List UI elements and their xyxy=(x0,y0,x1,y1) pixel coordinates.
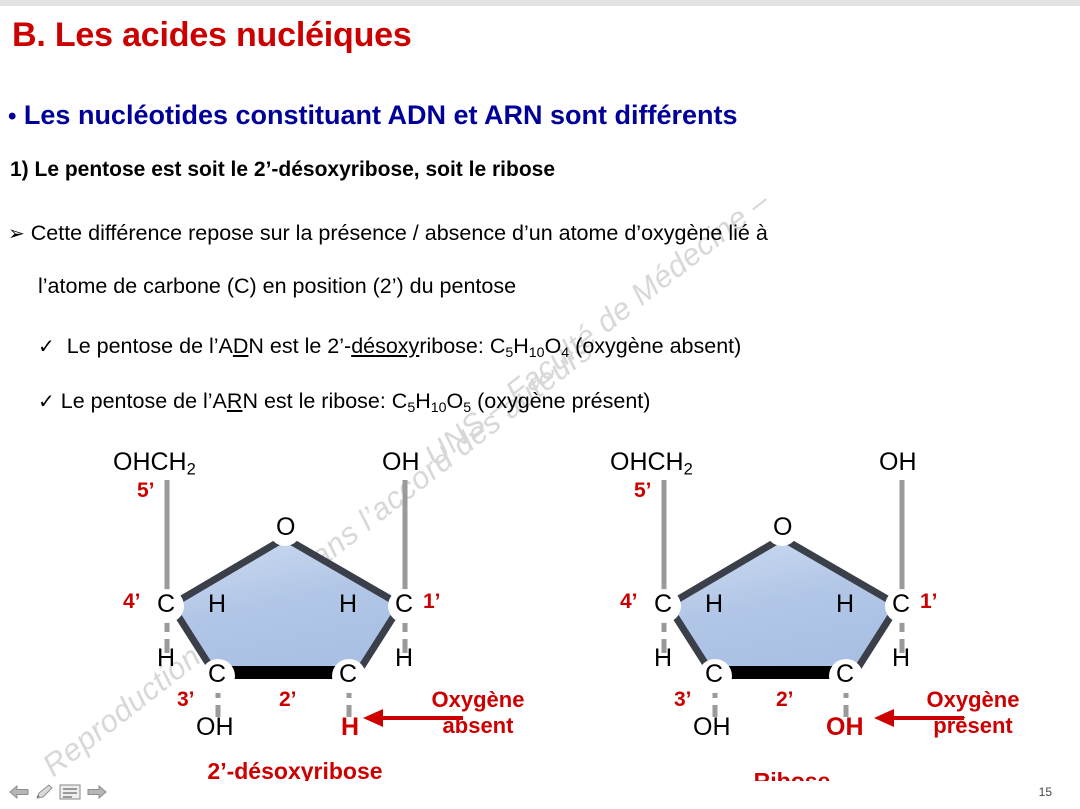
label-ring-oxygen: O xyxy=(773,513,792,542)
label-5prime: 5’ xyxy=(634,479,652,503)
label-3prime-oh: OH xyxy=(196,713,234,742)
molecule-ribose: OHCH2 5’ OH C 4’ O C 1’ H H H H C 3’ C 2… xyxy=(592,448,1022,781)
numbered-point: 1) Le pentose est soit le 2’-désoxyribos… xyxy=(10,158,555,182)
label-3prime: 3’ xyxy=(177,688,195,712)
callout-line-2: présent xyxy=(908,713,1038,739)
adn-pentose-text: Le pentose de l’ADN est le 2’-désoxyribo… xyxy=(61,334,742,358)
slide-canvas: Reproduction interdite sans l’accord des… xyxy=(0,6,1080,781)
body-line-3: ✓ Le pentose de l’ADN est le 2’-désoxyri… xyxy=(38,334,741,361)
label-2prime: 2’ xyxy=(279,688,297,712)
label-h-2prime: H xyxy=(836,590,854,619)
label-1prime: 1’ xyxy=(920,590,938,614)
label-1prime-oh: OH xyxy=(382,448,420,477)
molecule-name-desoxyribose: 2’-désoxyribose xyxy=(150,758,440,781)
body-line-1: ➢ Cette différence repose sur la présenc… xyxy=(8,221,768,246)
pen-icon[interactable] xyxy=(34,783,54,801)
body-line-2-text: l’atome de carbone (C) en position (2’) … xyxy=(38,274,516,298)
label-h-3prime: H xyxy=(705,590,723,619)
label-4prime: 4’ xyxy=(123,590,141,614)
page-title: B. Les acides nucléiques xyxy=(12,16,412,55)
label-c4: C xyxy=(157,590,175,619)
callout-line-2: absent xyxy=(408,713,548,739)
label-h-c4: H xyxy=(654,644,672,673)
arrow-bullet-icon: ➢ xyxy=(8,221,25,245)
label-h-c1: H xyxy=(395,644,413,673)
subtitle-text: Les nucléotides constituant ADN et ARN s… xyxy=(24,100,738,130)
label-1prime: 1’ xyxy=(423,590,441,614)
label-5prime: 5’ xyxy=(137,479,155,503)
forward-arrow-icon[interactable] xyxy=(86,783,108,801)
check-bullet-icon-2: ✓ xyxy=(38,389,55,413)
label-5prime-group: OHCH2 xyxy=(113,448,196,480)
molecule-desoxyribose: OHCH2 5’ OH C 4’ O C 1’ H H H H C 3’ C 2… xyxy=(95,448,525,781)
label-2prime-substituent: OH xyxy=(826,713,864,742)
callout-text: Oxygène présent xyxy=(908,687,1038,739)
bottom-toolbar: 15 xyxy=(0,781,1080,809)
page-number: 15 xyxy=(1039,785,1052,799)
label-c2: C xyxy=(836,660,854,689)
label-c3: C xyxy=(705,660,723,689)
menu-icon[interactable] xyxy=(58,783,82,801)
callout-line-1: Oxygène xyxy=(408,687,548,713)
body-line-1-text: Cette différence repose sur la présence … xyxy=(31,221,768,245)
label-1prime-oh: OH xyxy=(879,448,917,477)
molecule-name-ribose: Ribose xyxy=(692,768,892,781)
check-bullet-icon: ✓ xyxy=(38,334,55,358)
callout-text: Oxygène absent xyxy=(408,687,548,739)
bullet-dot-icon: • xyxy=(8,103,16,130)
label-3prime: 3’ xyxy=(674,688,692,712)
navigation-icons xyxy=(8,783,108,801)
label-2prime: 2’ xyxy=(776,688,794,712)
label-ring-oxygen: O xyxy=(276,513,295,542)
back-arrow-icon[interactable] xyxy=(8,783,30,801)
label-c1: C xyxy=(892,590,910,619)
subtitle: • Les nucléotides constituant ADN et ARN… xyxy=(8,100,737,131)
label-h-2prime: H xyxy=(339,590,357,619)
callout-line-1: Oxygène xyxy=(908,687,1038,713)
label-c4: C xyxy=(654,590,672,619)
label-4prime: 4’ xyxy=(620,590,638,614)
label-3prime-oh: OH xyxy=(693,713,731,742)
body-line-2: l’atome de carbone (C) en position (2’) … xyxy=(38,274,516,299)
label-h-c1: H xyxy=(892,644,910,673)
label-h-3prime: H xyxy=(208,590,226,619)
label-h-c4: H xyxy=(157,644,175,673)
label-c3: C xyxy=(208,660,226,689)
label-5prime-group: OHCH2 xyxy=(610,448,693,480)
arn-pentose-text: Le pentose de l’ARN est le ribose: C5H10… xyxy=(61,389,651,413)
body-line-4: ✓ Le pentose de l’ARN est le ribose: C5H… xyxy=(38,389,650,416)
label-c1: C xyxy=(395,590,413,619)
label-c2: C xyxy=(339,660,357,689)
